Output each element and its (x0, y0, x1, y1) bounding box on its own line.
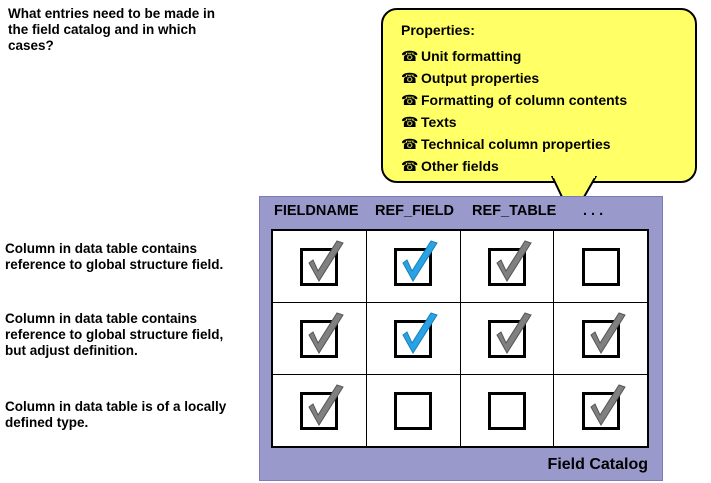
phone-icon: ☎ (401, 71, 421, 85)
table-cell (273, 303, 367, 374)
checkbox-empty[interactable] (582, 248, 620, 286)
checkmark-icon (297, 309, 349, 361)
list-item: ☎ Texts (401, 111, 691, 132)
table-cell (461, 375, 555, 446)
callout-item-label: Other fields (421, 158, 499, 174)
column-header-fieldname: FIELDNAME (274, 203, 359, 219)
phone-icon: ☎ (401, 159, 421, 173)
checkbox-empty[interactable] (394, 392, 432, 430)
properties-callout: Properties: ☎ Unit formatting ☎ Output p… (381, 8, 697, 183)
table-row (273, 231, 647, 303)
callout-title: Properties: (401, 22, 475, 38)
table-cell (461, 303, 555, 374)
column-header-row: FIELDNAME REF_FIELD REF_TABLE . . . (260, 203, 664, 225)
callout-item-label: Output properties (421, 70, 539, 86)
description-row-3: Column in data table is of a locally def… (5, 399, 245, 431)
table-cell (554, 375, 647, 446)
checkmark-icon (391, 309, 443, 361)
table-cell (367, 375, 461, 446)
checkbox-checked-gray[interactable] (582, 392, 620, 430)
column-header-ref-field: REF_FIELD (375, 203, 454, 219)
checkmark-icon (297, 237, 349, 289)
diagram-canvas: What entries need to be made in the fiel… (0, 0, 711, 483)
table-cell (273, 375, 367, 446)
column-header-ref-table: REF_TABLE (472, 203, 556, 219)
phone-icon: ☎ (401, 49, 421, 63)
table-cell (554, 303, 647, 374)
table-row (273, 303, 647, 375)
checkmark-icon (485, 237, 537, 289)
description-row-1: Column in data table contains reference … (5, 241, 245, 273)
table-cell (367, 231, 461, 302)
callout-item-label: Formatting of column contents (421, 92, 627, 108)
callout-list: ☎ Unit formatting ☎ Output properties ☎ … (401, 45, 691, 177)
phone-icon: ☎ (401, 93, 421, 107)
checkmark-icon (297, 381, 349, 433)
checkmark-icon (391, 237, 443, 289)
checkbox-checked-gray[interactable] (488, 248, 526, 286)
list-item: ☎ Other fields (401, 155, 691, 176)
callout-item-label: Unit formatting (421, 48, 521, 64)
question-text: What entries need to be made in the fiel… (8, 6, 238, 54)
callout-item-label: Technical column properties (421, 136, 611, 152)
table-cell (461, 231, 555, 302)
checkbox-empty[interactable] (488, 392, 526, 430)
list-item: ☎ Technical column properties (401, 133, 691, 154)
checkbox-checked-gray[interactable] (582, 320, 620, 358)
table-cell (554, 231, 647, 302)
table-cell (273, 231, 367, 302)
checkmark-icon (579, 381, 631, 433)
catalog-grid (271, 229, 649, 448)
table-cell (367, 303, 461, 374)
field-catalog-panel: FIELDNAME REF_FIELD REF_TABLE . . . (259, 196, 663, 481)
description-row-2: Column in data table contains reference … (5, 311, 245, 359)
list-item: ☎ Formatting of column contents (401, 89, 691, 110)
callout-item-label: Texts (421, 114, 457, 130)
checkmark-icon (485, 309, 537, 361)
list-item: ☎ Unit formatting (401, 45, 691, 66)
field-catalog-label: Field Catalog (548, 456, 648, 474)
checkbox-checked-gray[interactable] (300, 320, 338, 358)
checkmark-icon (579, 309, 631, 361)
phone-icon: ☎ (401, 137, 421, 151)
checkbox-checked-blue[interactable] (394, 248, 432, 286)
column-header-more: . . . (583, 203, 603, 219)
checkbox-checked-blue[interactable] (394, 320, 432, 358)
phone-icon: ☎ (401, 115, 421, 129)
checkbox-checked-gray[interactable] (300, 392, 338, 430)
checkbox-checked-gray[interactable] (488, 320, 526, 358)
checkbox-checked-gray[interactable] (300, 248, 338, 286)
table-row (273, 375, 647, 446)
list-item: ☎ Output properties (401, 67, 691, 88)
